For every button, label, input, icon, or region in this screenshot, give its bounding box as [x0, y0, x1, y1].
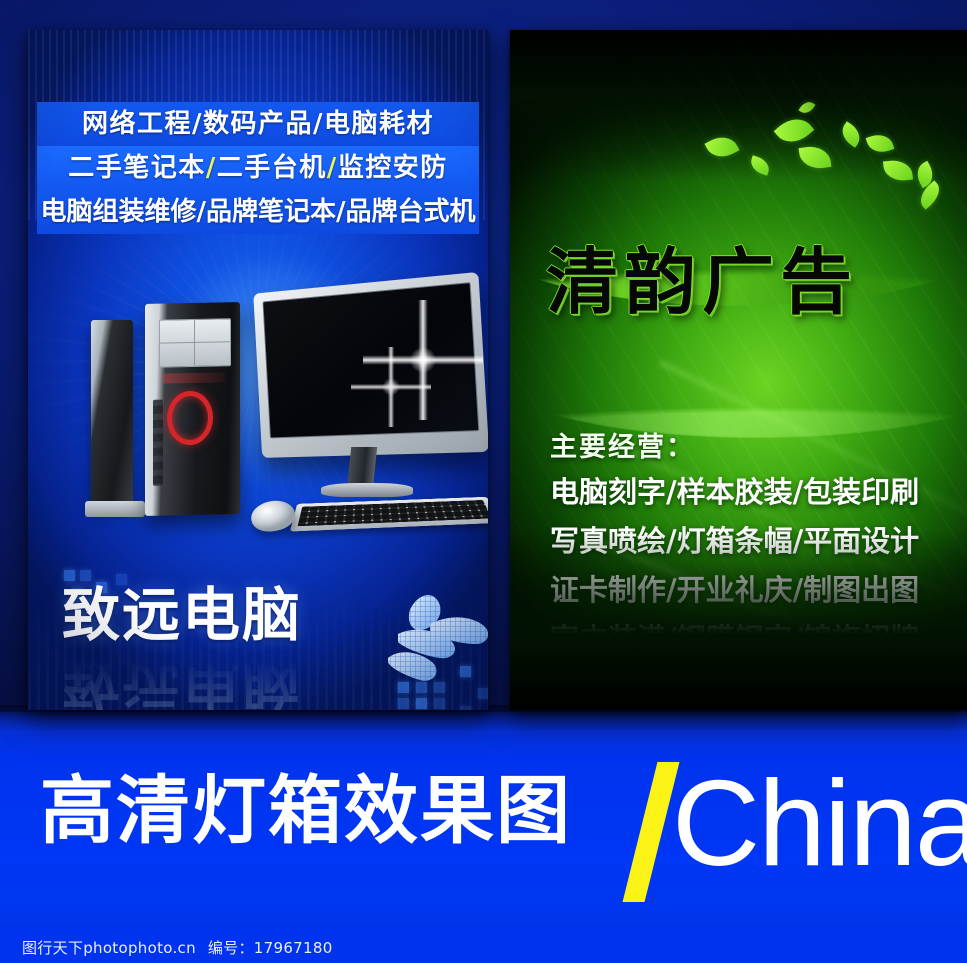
footer-id-value: 17967180: [254, 939, 333, 957]
leaf-icon-9: [915, 180, 945, 209]
green-bottom-shade: [510, 530, 967, 710]
poster-blue-computer: 网络工程/数码产品/电脑耗材 二手笔记本/二手台机/监控安防 电脑组装维修/品牌…: [28, 30, 488, 710]
leaf-icon-6: [866, 131, 895, 156]
banner-slash-divider: [623, 762, 680, 902]
footer-watermark-bar: 图行天下photophoto.cn编号：17967180: [0, 930, 967, 963]
footer-id-label: 编号：: [208, 939, 254, 957]
leaf-decorations: [510, 30, 967, 230]
leaf-icon-4: [799, 144, 832, 171]
poster-green-advertising: 清韵广告 主要经营： 电脑刻字/样本胶装/包装印刷 写真喷绘/灯箱条幅/平面设计…: [510, 30, 967, 710]
green-services-lead: 主要经营：: [550, 425, 960, 464]
banner-title-en: China: [672, 762, 967, 884]
leaf-icon-1: [704, 131, 739, 164]
leaf-icon-10: [798, 99, 815, 117]
bottom-banner: 高清灯箱效果图 China: [0, 760, 967, 930]
leaf-icon-3: [774, 111, 815, 151]
blue-vignette: [28, 30, 488, 710]
banner-title-cn: 高清灯箱效果图: [40, 774, 572, 848]
footer-watermark-text: 图行天下photophoto.cn编号：17967180: [22, 937, 333, 958]
green-title-text: 清韵广告: [546, 246, 858, 318]
footer-site: 图行天下photophoto.cn: [22, 939, 196, 957]
leaf-icon-7: [883, 159, 913, 183]
green-service-line-1: 电脑刻字/样本胶装/包装印刷: [550, 478, 960, 507]
leaf-icon-2: [748, 155, 772, 175]
poster-canvas: 网络工程/数码产品/电脑耗材 二手笔记本/二手台机/监控安防 电脑组装维修/品牌…: [0, 0, 967, 963]
green-poster-title: 清韵广告: [546, 226, 946, 338]
leaf-icon-5: [837, 121, 865, 148]
